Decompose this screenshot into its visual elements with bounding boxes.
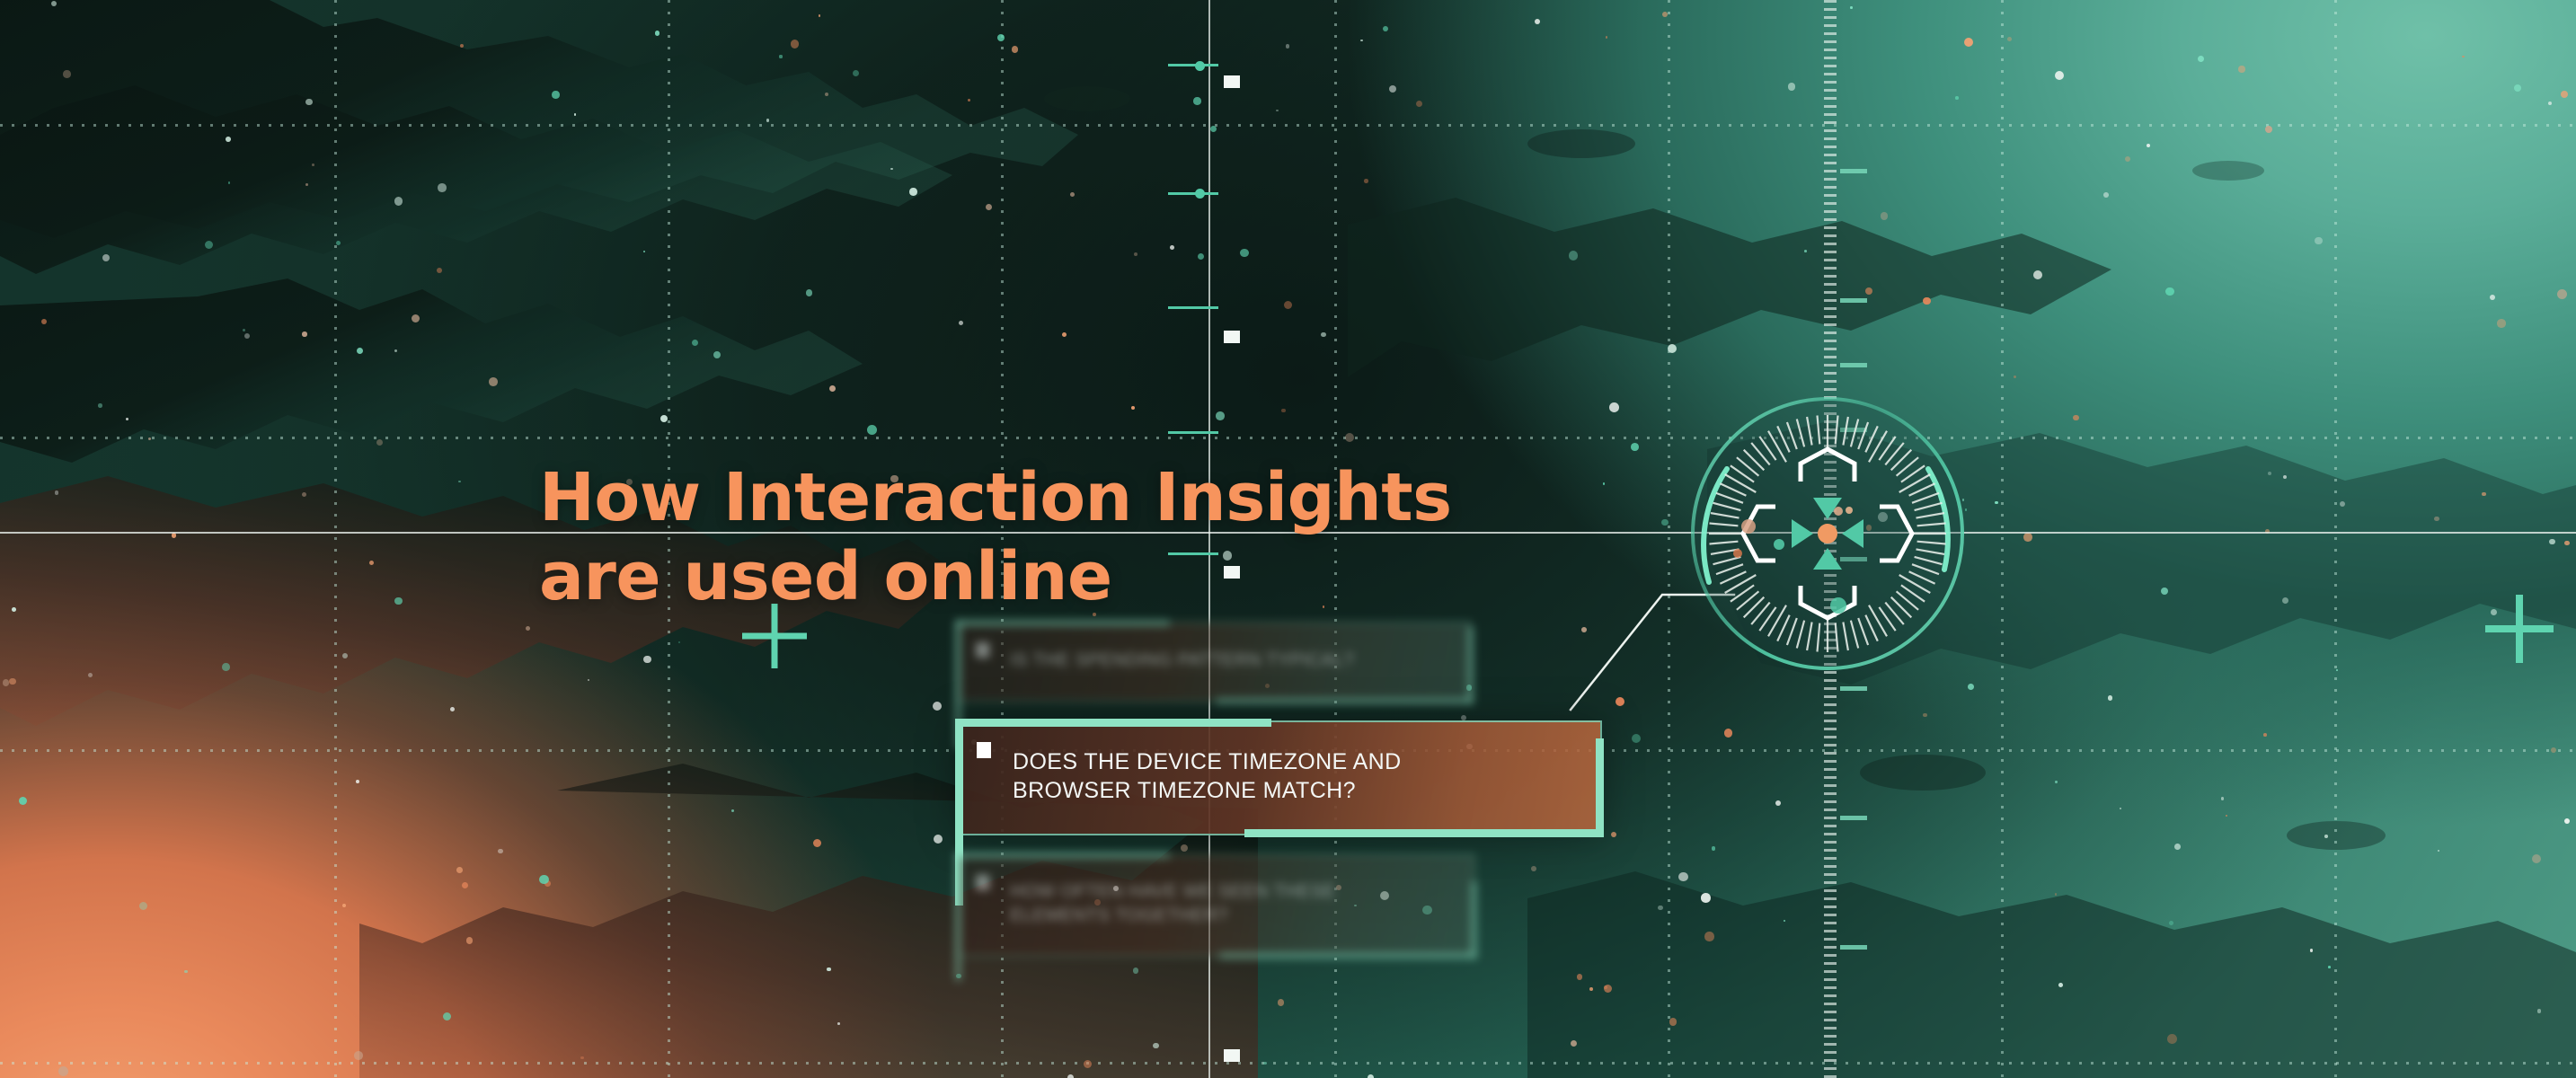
particle-dot [2310, 949, 2314, 952]
scan-marker-square [1224, 75, 1240, 88]
particle-dot [1995, 501, 1997, 504]
particle-dot [2055, 781, 2057, 782]
particle-dot [1923, 297, 1931, 305]
particle-dot [1210, 126, 1217, 132]
particle-dot [1383, 26, 1388, 31]
particle-dot [356, 780, 359, 783]
particle-dot [678, 641, 681, 644]
question-card-stack: IS THE SPENDING PATTERN TYPICAL? DOES TH… [957, 620, 1640, 976]
radar-blip [1741, 519, 1756, 534]
particle-dot [2103, 192, 2109, 198]
card-question-text: IS THE SPENDING PATTERN TYPICAL? [1010, 649, 1354, 673]
particle-dot [1364, 179, 1368, 183]
particle-dot [2490, 295, 2495, 300]
particle-dot [2108, 695, 2112, 700]
particle-dot [2169, 921, 2173, 925]
particle-dot [1321, 332, 1326, 338]
card-bullet-square-icon [976, 875, 989, 890]
particle-dot [2434, 517, 2439, 521]
particle-dot [890, 168, 892, 170]
particle-dot [1170, 245, 1174, 250]
particle-dot [222, 663, 230, 671]
particle-dot [731, 809, 734, 812]
particle-dot [2125, 156, 2130, 162]
title-line-2: are used online [539, 537, 1527, 616]
particle-dot [552, 91, 559, 98]
particle-dot [2336, 669, 2338, 671]
particle-dot [2221, 797, 2224, 800]
particle-dot [443, 1012, 451, 1021]
particle-dot [574, 113, 577, 116]
particle-dot [228, 181, 231, 184]
particle-dot [1661, 519, 1669, 526]
card-accent-top-left [955, 620, 1170, 626]
particle-dot [305, 183, 308, 186]
particle-dot [997, 34, 1005, 41]
radar-reticle[interactable] [1687, 393, 1968, 674]
particle-dot [148, 437, 151, 440]
particle-dot [2324, 835, 2328, 838]
particle-dot [1134, 252, 1138, 256]
hud-tick-dot [1195, 189, 1205, 199]
particle-dot [1658, 906, 1662, 910]
particle-dot [243, 329, 245, 331]
particle-dot [968, 99, 970, 102]
particle-dot [655, 31, 659, 35]
question-card-elements-together[interactable]: HOW OFTEN HAVE WE SEEN THESE ELEMENTS TO… [957, 854, 1475, 958]
particle-dot [933, 702, 942, 711]
ruler-major-tick [1840, 169, 1867, 173]
card-accent-right [1467, 627, 1474, 704]
particle-dot [1923, 713, 1926, 717]
particle-dot [1603, 482, 1606, 485]
particle-dot [312, 163, 314, 166]
particle-dot [2497, 319, 2505, 327]
particle-dot [126, 418, 128, 420]
particle-dot [450, 707, 455, 711]
particle-dot [1281, 409, 1285, 412]
particle-dot [779, 55, 782, 57]
particle-dot [2438, 850, 2439, 852]
particle-dot [2564, 818, 2570, 824]
particle-dot [2174, 844, 2181, 850]
particle-dot [2282, 597, 2288, 604]
card-bullet-square-icon [977, 742, 991, 758]
particle-dot [588, 679, 589, 681]
particle-dot [2462, 56, 2464, 57]
particle-dot [1012, 46, 1019, 53]
particle-dot [2315, 237, 2323, 245]
particle-dot [2283, 475, 2287, 479]
particle-dot [2147, 144, 2150, 147]
particle-dot [1067, 1074, 1075, 1078]
particle-dot [369, 561, 374, 565]
particle-dot [1193, 97, 1201, 105]
particle-dot [2263, 733, 2267, 737]
radar-blip [1733, 549, 1742, 558]
card-question-line-2: ELEMENTS TOGETHER? [1010, 904, 1335, 928]
ruler-major-tick [1840, 816, 1867, 820]
particle-dot [205, 241, 213, 249]
particle-dot [12, 607, 16, 612]
hud-scene: How Interaction Insights are used online… [0, 0, 2576, 1078]
particle-dot [2165, 287, 2174, 296]
particle-dot [437, 268, 442, 273]
particle-dot [1153, 1043, 1158, 1048]
particle-dot [1569, 251, 1579, 261]
particle-dot [2482, 492, 2485, 496]
particle-dot [342, 904, 346, 907]
card-accent-top-left [955, 853, 1170, 859]
particle-dot [867, 425, 877, 435]
crosshair-right [2485, 595, 2554, 663]
particle-dot [1389, 85, 1396, 93]
card-question-text: DOES THE DEVICE TIMEZONE AND BROWSER TIM… [1013, 747, 1402, 805]
particle-dot [1881, 212, 1888, 219]
particle-dot [302, 492, 306, 497]
card-accent-left [955, 853, 961, 981]
particle-dot [88, 673, 93, 677]
particle-dot [2167, 1034, 2177, 1044]
particle-dot [2340, 501, 2346, 508]
particle-dot [1609, 402, 1619, 412]
particle-dot [1788, 83, 1795, 90]
particle-dot [580, 1056, 584, 1060]
particle-dot [2073, 415, 2079, 421]
particle-dot [2238, 66, 2244, 72]
particle-dot [2537, 1009, 2542, 1013]
particle-dot [1804, 250, 1807, 252]
radar-blip [1834, 507, 1843, 516]
particle-dot [692, 340, 698, 346]
particle-dot [2055, 893, 2057, 895]
particle-dot [2033, 270, 2042, 279]
hud-tick [1168, 192, 1218, 195]
particle-dot [1704, 932, 1713, 941]
ruler-major-tick [1840, 298, 1867, 303]
particle-dot [2014, 376, 2016, 378]
particle-dot [456, 867, 463, 873]
particle-dot [1955, 96, 1959, 100]
particle-dot [394, 197, 403, 206]
particle-dot [819, 14, 821, 17]
particle-dot [526, 626, 530, 631]
particle-dot [1712, 846, 1715, 850]
particle-dot [986, 204, 992, 210]
particle-dot [498, 849, 502, 853]
hud-tick-dot [1195, 61, 1205, 71]
ruler-major-tick [1840, 686, 1867, 691]
particle-dot [2328, 966, 2331, 968]
particle-dot [2557, 289, 2567, 299]
scan-marker-square [1224, 1049, 1240, 1062]
particle-dot [2532, 854, 2541, 863]
particle-dot [1284, 301, 1293, 310]
particle-dot [466, 937, 474, 944]
particle-dot [1724, 729, 1733, 738]
particle-dot [1964, 38, 1973, 47]
particle-dot [1589, 987, 1593, 991]
particle-dot [1850, 6, 1852, 8]
particle-dot [302, 331, 307, 337]
ruler-major-tick [1840, 363, 1867, 367]
particle-dot [1678, 872, 1687, 881]
particle-dot [2226, 815, 2228, 817]
particle-dot [660, 415, 668, 423]
particle-dot [1286, 44, 1289, 48]
particle-dot [909, 188, 917, 196]
ruler-major-tick [1840, 945, 1867, 950]
card-question-line-2: BROWSER TIMEZONE MATCH? [1013, 776, 1402, 805]
particle-dot [58, 1066, 68, 1076]
particle-dot [2120, 808, 2122, 810]
card-question-line-1: HOW OFTEN HAVE WE SEEN THESE [1010, 879, 1335, 904]
particle-dot [934, 835, 943, 844]
particle-dot [539, 875, 548, 884]
particle-dot [791, 40, 800, 49]
particle-dot [1968, 684, 1974, 690]
particle-dot [1368, 1074, 1375, 1078]
card-accent-bottom-right [1244, 829, 1604, 837]
particle-dot [1345, 433, 1355, 443]
particle-dot [226, 137, 231, 142]
particle-dot [2561, 91, 2568, 98]
particle-dot [2514, 84, 2521, 92]
particle-dot [1276, 110, 1279, 112]
hud-tick [1168, 306, 1218, 309]
particle-dot [460, 44, 465, 49]
particle-dot [1062, 332, 1067, 337]
particle-dot [2549, 539, 2555, 545]
particle-dot [853, 70, 859, 76]
card-question-text: HOW OFTEN HAVE WE SEEN THESE ELEMENTS TO… [1010, 879, 1335, 927]
particle-dot [2564, 541, 2570, 546]
particle-dot [1571, 1040, 1577, 1047]
hud-tick [1168, 431, 1218, 434]
particle-dot [357, 348, 363, 354]
particle-dot [1416, 101, 1422, 107]
particle-dot [813, 839, 821, 847]
particle-dot [412, 314, 420, 323]
particle-dot [643, 656, 651, 664]
card-accent-bottom-right [1219, 953, 1477, 959]
card-accent-right [1596, 738, 1604, 837]
particle-dot [1784, 920, 1785, 922]
particle-dot [825, 93, 828, 96]
particle-dot [1240, 249, 1248, 257]
particle-dot [489, 377, 498, 386]
scan-marker-square [1224, 331, 1240, 343]
particle-dot [2161, 588, 2168, 595]
particle-dot [1865, 287, 1873, 296]
particle-dot [837, 1022, 840, 1025]
particle-dot [354, 1051, 363, 1060]
particle-dot [959, 321, 963, 325]
particle-dot [394, 597, 403, 605]
particle-dot [19, 797, 27, 805]
particle-dot [1606, 36, 1607, 38]
particle-dot [1070, 192, 1075, 197]
particle-dot [1198, 253, 1204, 260]
title-line-1: How Interaction Insights [539, 458, 1527, 537]
particle-dot [462, 882, 468, 888]
particle-dot [2198, 56, 2205, 63]
radar-center-dot [1818, 524, 1837, 543]
particle-dot [376, 439, 383, 446]
particle-dot [458, 481, 461, 483]
particle-dot [2055, 71, 2065, 81]
hud-tick [1168, 64, 1218, 66]
particle-dot [1360, 40, 1362, 41]
particle-dot [139, 902, 147, 910]
radar-blip [1830, 597, 1846, 614]
particle-dot [1668, 344, 1677, 353]
particle-dot [2023, 533, 2032, 542]
card-question-line-1: DOES THE DEVICE TIMEZONE AND [1013, 747, 1402, 776]
particle-dot [342, 653, 348, 658]
particle-dot [63, 70, 71, 78]
particle-dot [336, 241, 341, 245]
particle-dot [1278, 999, 1285, 1006]
card-bullet-square-icon [976, 642, 989, 658]
particle-dot [1535, 19, 1540, 24]
particle-dot [2265, 126, 2273, 134]
particle-dot [713, 351, 721, 358]
particle-dot [1669, 1018, 1677, 1026]
particle-dot [9, 678, 16, 685]
particle-dot [1775, 800, 1782, 807]
particle-dot [1216, 411, 1225, 420]
particle-dot [1701, 893, 1711, 903]
particle-dot [98, 403, 102, 407]
particle-dot [2007, 37, 2012, 41]
radar-blip [1846, 507, 1853, 514]
radar-blip [1774, 539, 1784, 550]
particle-dot [438, 183, 446, 191]
particle-dot [2551, 747, 2556, 753]
particle-dot [1263, 1062, 1267, 1065]
particle-dot [2058, 983, 2063, 987]
particle-dot [55, 490, 59, 495]
particle-dot [829, 385, 836, 392]
particle-dot [1604, 985, 1612, 993]
particle-dot [1631, 443, 1639, 451]
particle-dot [2268, 472, 2271, 475]
card-accent-top-left [955, 719, 1271, 727]
particle-dot [1662, 12, 1668, 17]
particle-dot [643, 251, 646, 253]
particle-dot [102, 254, 110, 261]
particle-dot [394, 349, 397, 352]
particle-dot [41, 319, 47, 324]
question-card-timezone-match[interactable]: DOES THE DEVICE TIMEZONE AND BROWSER TIM… [957, 720, 1602, 835]
particle-dot [766, 119, 770, 122]
particle-dot [244, 333, 250, 339]
particle-dot [1131, 406, 1135, 410]
card-accent-right [1471, 881, 1477, 959]
particle-dot [827, 968, 830, 971]
page-title: How Interaction Insights are used online [539, 458, 1527, 616]
particle-dot [51, 1, 57, 6]
card-accent-bottom-right [1216, 698, 1473, 704]
particle-dot [305, 99, 313, 106]
particle-dot [806, 289, 812, 296]
particle-dot [2548, 102, 2552, 105]
question-card-spending-pattern[interactable]: IS THE SPENDING PATTERN TYPICAL? [957, 622, 1472, 702]
particle-dot [1084, 1060, 1092, 1068]
particle-dot [184, 970, 187, 973]
